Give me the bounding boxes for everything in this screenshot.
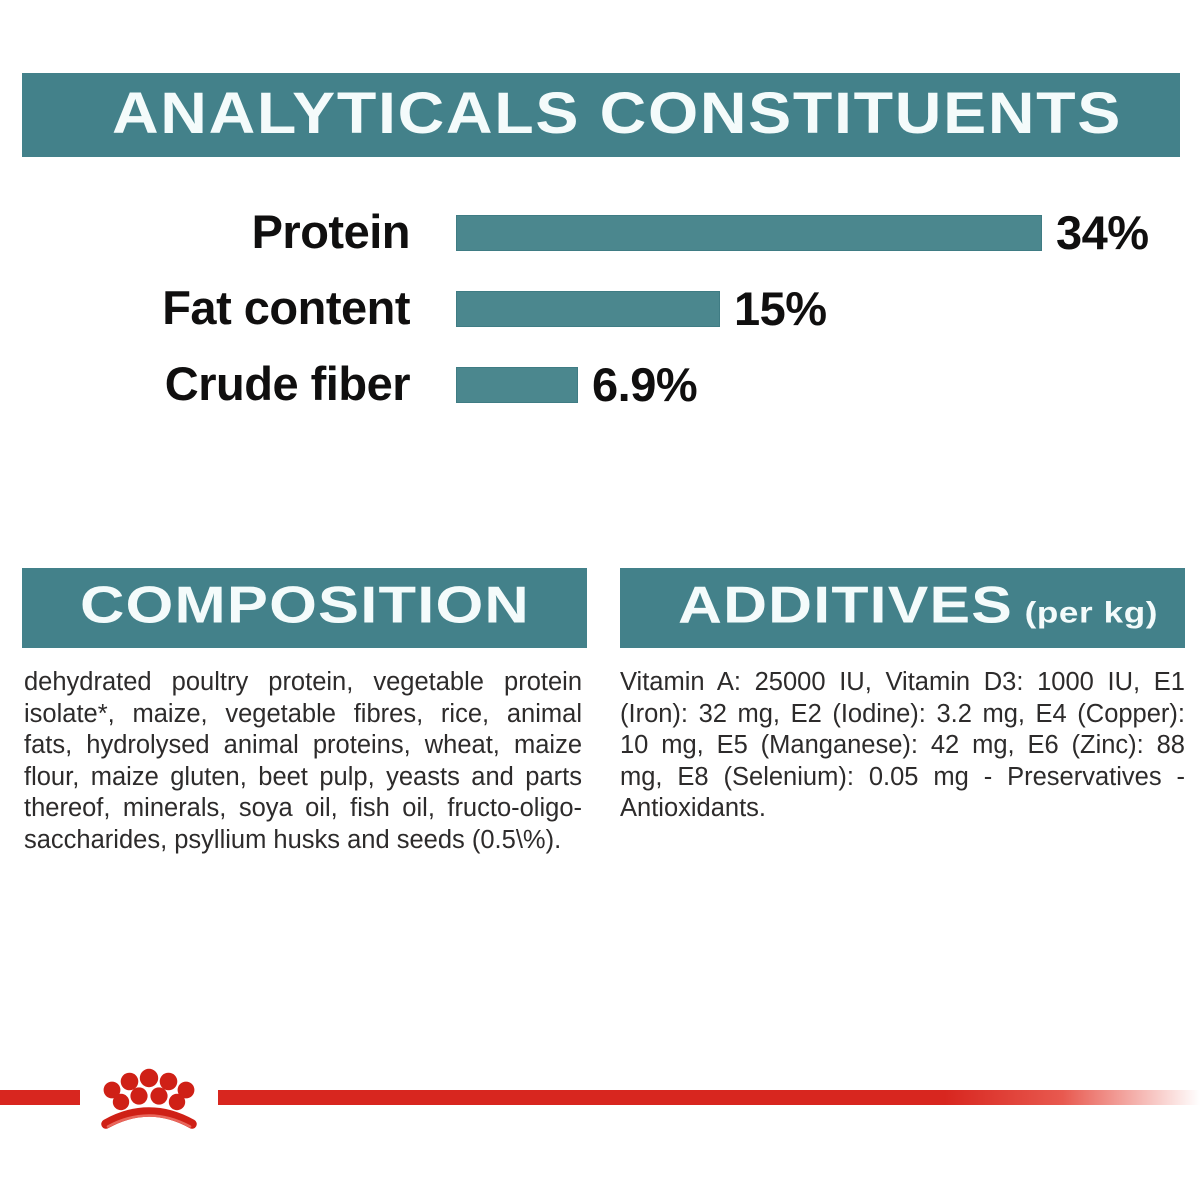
additives-body-text: Vitamin A: 25000 IU, Vitamin D3: 1000 IU… bbox=[620, 667, 1185, 825]
royal-canin-crown-icon bbox=[84, 1056, 214, 1146]
chart-value-label: 15% bbox=[734, 283, 827, 335]
additives-heading-subtitle: (per kg) bbox=[1025, 597, 1158, 630]
additives-heading: ADDITIVES bbox=[678, 577, 1013, 635]
chart-category-label: Protein bbox=[0, 206, 410, 258]
chart-row: Fat content 15% bbox=[0, 282, 1200, 334]
chart-value-label: 6.9% bbox=[592, 359, 697, 411]
page-title: ANALYTICALS CONSTITUENTS bbox=[112, 85, 1122, 143]
chart-category-label: Fat content bbox=[0, 282, 410, 334]
footer-rule-right bbox=[218, 1090, 1200, 1105]
nutrition-panel: ANALYTICALS CONSTITUENTS Protein 34% Fat… bbox=[0, 0, 1200, 1200]
chart-bar-wrap: 15% bbox=[456, 291, 720, 327]
composition-header: COMPOSITION bbox=[22, 568, 587, 648]
brand-footer bbox=[0, 1062, 1200, 1162]
chart-row: Crude fiber 6.9% bbox=[0, 358, 1200, 410]
chart-row: Protein 34% bbox=[0, 206, 1200, 258]
chart-bar bbox=[456, 367, 578, 403]
chart-bar-wrap: 6.9% bbox=[456, 367, 578, 403]
analyticals-constituents-header: ANALYTICALS CONSTITUENTS bbox=[22, 73, 1180, 157]
analytical-constituents-chart: Protein 34% Fat content 15% Crude fiber … bbox=[0, 196, 1200, 426]
footer-rule-left bbox=[0, 1090, 80, 1105]
additives-header: ADDITIVES(per kg) bbox=[620, 568, 1185, 648]
chart-value-label: 34% bbox=[1056, 207, 1149, 259]
chart-bar-wrap: 34% bbox=[456, 215, 1042, 251]
chart-category-label: Crude fiber bbox=[0, 358, 410, 410]
chart-bar bbox=[456, 215, 1042, 251]
composition-body-text: dehydrated poultry protein, vegetable pr… bbox=[24, 667, 582, 856]
composition-section: COMPOSITION dehydrated poultry protein, … bbox=[22, 568, 587, 856]
chart-bar bbox=[456, 291, 720, 327]
composition-heading: COMPOSITION bbox=[80, 577, 530, 635]
composition-header-inner: COMPOSITION bbox=[80, 576, 530, 636]
additives-header-inner: ADDITIVES(per kg) bbox=[678, 576, 1158, 636]
additives-section: ADDITIVES(per kg) Vitamin A: 25000 IU, V… bbox=[620, 568, 1185, 825]
